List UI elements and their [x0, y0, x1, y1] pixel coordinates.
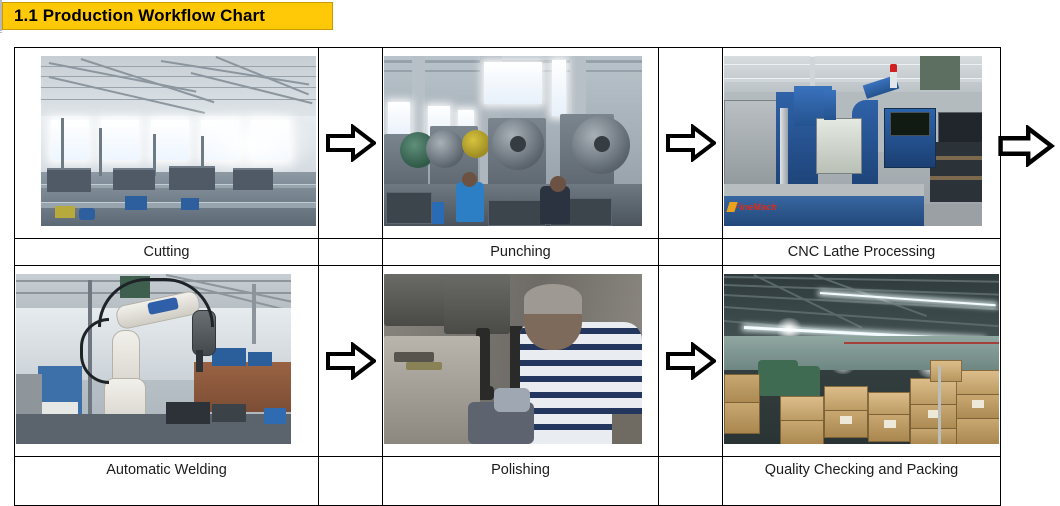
section-header-banner: 1.1 Production Workflow Chart: [2, 2, 333, 30]
step-photo-cell-polishing: [383, 266, 659, 457]
step-caption: Punching: [383, 239, 658, 262]
arrow-cell-4: [659, 266, 723, 457]
photo-worker-polishing-at-drill-press: [384, 274, 642, 444]
step-caption-cell-quality: Quality Checking and Packing: [723, 457, 1001, 506]
arrow-cell-1: [319, 48, 383, 239]
step-caption-cell-welding: Automatic Welding: [15, 457, 319, 506]
right-block-arrow-icon: [326, 124, 376, 162]
step-caption-cell-punching: Punching: [383, 239, 659, 266]
step-photo-cell-cutting: [15, 48, 319, 239]
step-caption-cell-polishing: Polishing: [383, 457, 659, 506]
arrow-caption-spacer-4: [659, 457, 723, 506]
workflow-table: FineMach Cutting Punching CNC Lathe Proc…: [14, 47, 1001, 506]
table-row: Automatic Welding Polishing Quality Chec…: [15, 457, 1001, 506]
photo-factory-cutting-workshop: [41, 56, 316, 226]
arrow-caption-spacer-3: [319, 457, 383, 506]
arrow-cell-2: [659, 48, 723, 239]
step-caption: Automatic Welding: [15, 457, 318, 480]
table-row: [15, 266, 1001, 457]
production-workflow-page: 1.1 Production Workflow Chart: [0, 0, 1060, 498]
arrow-caption-spacer-1: [319, 239, 383, 266]
step-caption: Polishing: [383, 457, 658, 480]
header-underline: [0, 31, 1060, 32]
arrow-cell-3: [319, 266, 383, 457]
step-photo-cell-welding: [15, 266, 319, 457]
right-block-arrow-icon: [666, 124, 716, 162]
step-caption: Quality Checking and Packing: [723, 457, 1000, 480]
table-row: Cutting Punching CNC Lathe Processing: [15, 239, 1001, 266]
step-caption: CNC Lathe Processing: [723, 239, 1000, 262]
step-photo-cell-cnc: FineMach: [723, 48, 1001, 239]
page-title: 1.1 Production Workflow Chart: [3, 6, 265, 26]
trailing-arrow-cell: [997, 125, 1055, 172]
step-caption: Cutting: [15, 239, 318, 262]
photo-blue-cnc-machining-centre: FineMach: [724, 56, 982, 226]
step-photo-cell-punching: [383, 48, 659, 239]
right-block-arrow-icon: [997, 125, 1055, 167]
photo-warehouse-packed-cartons: [724, 274, 999, 444]
arrow-caption-spacer-2: [659, 239, 723, 266]
step-caption-cell-cutting: Cutting: [15, 239, 319, 266]
table-row: FineMach: [15, 48, 1001, 239]
step-caption-cell-cnc: CNC Lathe Processing: [723, 239, 1001, 266]
right-block-arrow-icon: [326, 342, 376, 380]
photo-white-welding-robot-arm: [16, 274, 291, 444]
photo-punch-press-line-with-workers: [384, 56, 642, 226]
right-block-arrow-icon: [666, 342, 716, 380]
step-photo-cell-quality: [723, 266, 1001, 457]
